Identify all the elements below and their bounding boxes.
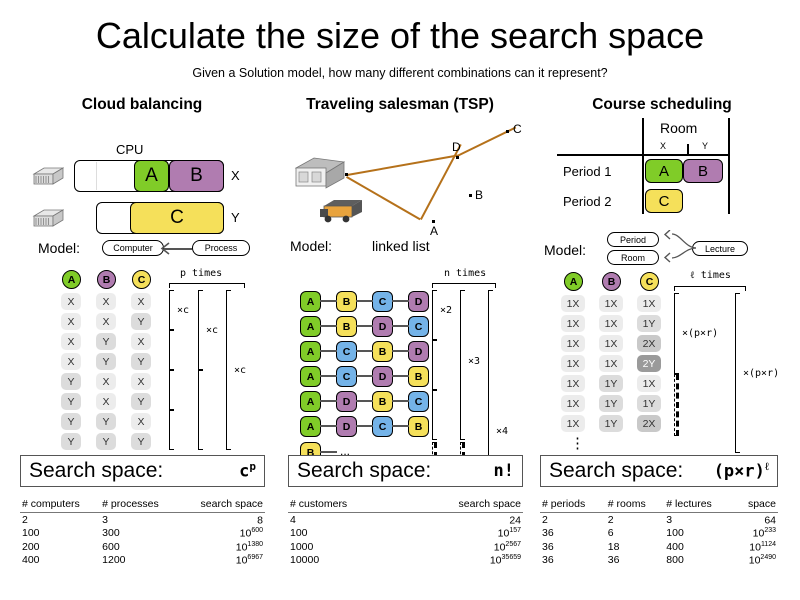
- cloud-balancing-diagram: CPU: [12, 116, 272, 236]
- combo-cell: X: [61, 353, 81, 370]
- entity-computer[interactable]: Computer: [102, 240, 164, 256]
- times-bracket: [169, 283, 245, 288]
- multiplier-bracket: [735, 293, 740, 453]
- chain-node: C: [408, 316, 429, 337]
- vertical-ellipsis: ⋮: [570, 442, 585, 446]
- chain-arrow: [392, 425, 409, 427]
- times-label: n times: [444, 268, 486, 279]
- multiplier-bracket: [169, 330, 174, 370]
- chip-a[interactable]: A: [134, 160, 169, 192]
- combo-cell: 1X: [561, 355, 585, 372]
- combo-header-b: B: [97, 270, 116, 289]
- combo-cell: Y: [96, 353, 116, 370]
- model-label: Model:: [290, 238, 332, 254]
- combo-cell: 2X: [637, 335, 661, 352]
- combo-cell: X: [131, 293, 151, 310]
- cell: 1035659: [401, 554, 523, 568]
- chain-node: D: [372, 316, 393, 337]
- combo-cell: 1X: [637, 375, 661, 392]
- combo-cell: 1X: [561, 415, 585, 432]
- combo-cell: 1X: [561, 295, 585, 312]
- combo-cell: Y: [61, 433, 81, 450]
- cell: 300: [100, 527, 179, 541]
- tsp-diagram: C D B A: [270, 116, 530, 236]
- machine-label-y: Y: [231, 210, 240, 225]
- chain-node: D: [408, 291, 429, 312]
- search-space-box-tsp: Search space: n!: [288, 455, 523, 487]
- chain-node: C: [336, 341, 357, 362]
- chain-node: C: [408, 391, 429, 412]
- chain-node: A: [300, 391, 321, 412]
- combo-cell: Y: [131, 353, 151, 370]
- combo-header-b: B: [602, 272, 621, 291]
- combo-cell: 1X: [561, 395, 585, 412]
- combo-cell: Y: [96, 413, 116, 430]
- cell: 64: [733, 513, 778, 527]
- chain-arrow: [356, 425, 373, 427]
- combo-cell: 1X: [637, 295, 661, 312]
- multiplier-label: ×(p×r): [682, 328, 718, 339]
- col-header: search space: [401, 497, 523, 513]
- grid-line: [687, 144, 689, 154]
- data-table-course: # periods # rooms # lectures space 2 2 3…: [540, 497, 778, 567]
- combo-cell: X: [96, 313, 116, 330]
- multiplier-bracket: [432, 290, 437, 340]
- cell: 400: [20, 554, 100, 568]
- column-traveling-salesman: Traveling salesman (TSP): [270, 96, 530, 444]
- cell: 10233: [733, 527, 778, 541]
- column-title-cloud-balancing: Cloud balancing: [12, 96, 272, 116]
- combo-cell: 2Y: [637, 355, 661, 372]
- course-scheduling-model: Model: Period Room Lecture: [532, 236, 792, 272]
- room-column-y: Y: [702, 141, 708, 151]
- relation-arrows: [656, 230, 698, 268]
- grid-line: [728, 118, 730, 214]
- cell: 2: [20, 513, 100, 527]
- multiplier-bracket: [169, 410, 174, 450]
- model-label: Model:: [544, 242, 586, 258]
- multiplier-bracket: [674, 293, 679, 374]
- chain-arrow: [392, 300, 409, 302]
- entity-process[interactable]: Process: [192, 240, 250, 256]
- lecture-a[interactable]: A: [645, 159, 683, 183]
- cell: 36: [540, 540, 606, 554]
- course-scheduling-diagram: Room X Y Period 1 Period 2 A B C: [532, 116, 792, 236]
- combo-cell: X: [96, 293, 116, 310]
- multiplier-label: ×c: [234, 365, 246, 376]
- route-point-d: [456, 156, 459, 159]
- combo-cell: X: [61, 313, 81, 330]
- cell: 106967: [179, 554, 265, 568]
- entity-room[interactable]: Room: [607, 250, 659, 265]
- chain-arrow: [356, 325, 373, 327]
- chain-node: B: [372, 341, 393, 362]
- table-row: 10000 1035659: [288, 554, 523, 568]
- chip-c[interactable]: C: [130, 202, 224, 234]
- combo-cell: Y: [131, 313, 151, 330]
- times-bracket: [674, 286, 746, 291]
- col-header: # processes: [100, 497, 179, 513]
- chain-node: D: [336, 391, 357, 412]
- times-label: ℓ times: [690, 270, 731, 281]
- route-point: [345, 173, 348, 176]
- table-row: 2 3 8: [20, 513, 265, 527]
- data-table-cloud: # computers # processes search space 2 3…: [20, 497, 265, 567]
- grid-line: [642, 118, 644, 214]
- search-space-box-course: Search space: (p×r)ℓ: [540, 455, 778, 487]
- chain-node: A: [300, 366, 321, 387]
- cell: 6: [606, 527, 664, 541]
- tsp-combinations: n times A B C D A B D C A C B D: [270, 266, 530, 444]
- search-space-label: Search space:: [29, 459, 163, 483]
- chip-b[interactable]: B: [169, 160, 224, 192]
- col-header: # rooms: [606, 497, 664, 513]
- cell: 100: [288, 527, 401, 541]
- page-title: Calculate the size of the search space: [0, 14, 800, 58]
- chain-arrow: [356, 300, 373, 302]
- combo-cell: 1Y: [599, 415, 623, 432]
- combo-header-a: A: [62, 270, 81, 289]
- chain-node: D: [336, 416, 357, 437]
- chain-arrow: [320, 350, 337, 352]
- cell: 36: [606, 554, 664, 568]
- combo-cell: 1Y: [599, 395, 623, 412]
- period-label-1: Period 1: [563, 164, 611, 179]
- chain-node: C: [336, 366, 357, 387]
- route-edge: [347, 155, 458, 176]
- combo-cell: 1X: [599, 315, 623, 332]
- col-header: # lectures: [664, 497, 733, 513]
- slide-root: Calculate the size of the search space G…: [0, 0, 800, 600]
- cloud-balancing-model: Model: Computer Process: [12, 236, 272, 266]
- multiplier-bracket: [198, 290, 203, 370]
- chain-node: D: [408, 341, 429, 362]
- combo-cell: 1Y: [637, 315, 661, 332]
- multiplier-bracket: [674, 374, 679, 436]
- cell: 2: [606, 513, 664, 527]
- cell: 1000: [288, 540, 401, 554]
- room-column-x: X: [660, 141, 666, 151]
- chain-arrow: [320, 400, 337, 402]
- route-point-a: [432, 220, 435, 223]
- chain-node: A: [300, 341, 321, 362]
- combo-cell: 1Y: [599, 375, 623, 392]
- multiplier-label: ×3: [468, 356, 480, 367]
- table-row: 200 600 101380: [20, 540, 265, 554]
- search-space-formula: (p×r)ℓ: [714, 460, 769, 482]
- combo-cell: X: [96, 373, 116, 390]
- cpu-tick: [96, 162, 97, 190]
- cell: 10157: [401, 527, 523, 541]
- route-label-d: D: [452, 140, 461, 154]
- cell: 24: [401, 513, 523, 527]
- route-point-c: [506, 130, 509, 133]
- combo-cell: Y: [61, 373, 81, 390]
- search-space-box-cloud: Search space: cp: [20, 455, 265, 487]
- cell: 600: [100, 540, 179, 554]
- multiplier-bracket: [488, 290, 493, 476]
- route-point-b: [469, 194, 472, 197]
- route-label-b: B: [475, 188, 483, 202]
- combo-cell: Y: [61, 413, 81, 430]
- table-row: 36 36 800 102490: [540, 554, 778, 568]
- combo-cell: 1Y: [637, 395, 661, 412]
- cell: 100: [20, 527, 100, 541]
- cell: 18: [606, 540, 664, 554]
- course-scheduling-combinations: A B C 1X 1X 1X 1X 1X 1Y 1X 1X 2X 1X 1X 2…: [532, 272, 792, 450]
- search-space-label: Search space:: [549, 459, 683, 483]
- multiplier-bracket: [198, 370, 203, 450]
- chain-arrow: [320, 425, 337, 427]
- col-header: space: [733, 497, 778, 513]
- table-row: 2 2 3 64: [540, 513, 778, 527]
- combo-cell: Y: [61, 393, 81, 410]
- search-space-label: Search space:: [297, 459, 431, 483]
- table-row: 100 300 10600: [20, 527, 265, 541]
- cell: 36: [540, 527, 606, 541]
- arrow-head-icon: [160, 242, 170, 255]
- chain-node: A: [300, 316, 321, 337]
- table-row: 1000 102567: [288, 540, 523, 554]
- chain-arrow: [356, 375, 373, 377]
- col-header: # customers: [288, 497, 401, 513]
- combo-cell: 1X: [599, 355, 623, 372]
- chain-node: B: [408, 366, 429, 387]
- cpu-label: CPU: [116, 142, 143, 157]
- cell: 100: [664, 527, 733, 541]
- column-course-scheduling: Course scheduling Room X Y Period 1 Peri…: [532, 96, 792, 450]
- chain-node: A: [300, 291, 321, 312]
- combo-cell: 1X: [599, 335, 623, 352]
- combo-cell: 1X: [561, 375, 585, 392]
- combo-cell: 1X: [561, 335, 585, 352]
- col-header: # computers: [20, 497, 100, 513]
- times-label: p times: [180, 268, 222, 279]
- model-value: linked list: [372, 238, 430, 254]
- cell: 10600: [179, 527, 265, 541]
- chain-arrow: [320, 300, 337, 302]
- times-bracket: [432, 283, 496, 288]
- combo-header-c: C: [640, 272, 659, 291]
- combo-cell: X: [61, 293, 81, 310]
- page-subtitle: Given a Solution model, how many differe…: [0, 66, 800, 80]
- multiplier-bracket: [169, 290, 174, 330]
- lecture-c[interactable]: C: [645, 189, 683, 213]
- cell: 400: [664, 540, 733, 554]
- cell: 1200: [100, 554, 179, 568]
- col-header: # periods: [540, 497, 606, 513]
- cell: 101124: [733, 540, 778, 554]
- chain-node: D: [372, 366, 393, 387]
- combo-header-a: A: [564, 272, 583, 291]
- cell: 10000: [288, 554, 401, 568]
- tsp-model: Model: linked list: [270, 236, 530, 266]
- multiplier-bracket: [432, 340, 437, 390]
- chain-node: C: [372, 416, 393, 437]
- column-title-course-scheduling: Course scheduling: [532, 96, 792, 116]
- chain-arrow: [392, 375, 409, 377]
- combo-cell: X: [131, 373, 151, 390]
- cell: 3: [100, 513, 179, 527]
- combo-cell: Y: [96, 333, 116, 350]
- combo-cell: Y: [131, 393, 151, 410]
- cloud-balancing-combinations: A B C X X X X X Y X Y X X Y Y Y X X Y X …: [12, 266, 272, 444]
- table-row: 4 24: [288, 513, 523, 527]
- chain-node: B: [408, 416, 429, 437]
- warehouse-icon: [292, 154, 348, 194]
- combo-cell: 1X: [599, 295, 623, 312]
- period-label-2: Period 2: [563, 194, 611, 209]
- cell: 102490: [733, 554, 778, 568]
- multiplier-bracket: [169, 370, 174, 410]
- cell: 4: [288, 513, 401, 527]
- multiplier-label: ×c: [206, 325, 218, 336]
- table-row: 36 18 400 101124: [540, 540, 778, 554]
- chain-node: B: [336, 291, 357, 312]
- multiplier-label: ×(p×r): [743, 368, 779, 379]
- search-space-formula: n!: [494, 461, 514, 481]
- server-icon: [28, 166, 64, 192]
- entity-period[interactable]: Period: [607, 232, 659, 247]
- entity-lecture[interactable]: Lecture: [692, 241, 748, 256]
- multiplier-label: ×4: [496, 426, 508, 437]
- search-space-formula: cp: [239, 460, 256, 482]
- model-label: Model:: [38, 240, 80, 256]
- chain-arrow: [392, 350, 409, 352]
- multiplier-bracket: [226, 290, 231, 450]
- cell: 2: [540, 513, 606, 527]
- combo-cell: 1X: [561, 315, 585, 332]
- cell: 102567: [401, 540, 523, 554]
- room-label: Room: [660, 120, 697, 136]
- chain-node: B: [372, 391, 393, 412]
- chain-arrow: [320, 375, 337, 377]
- machine-label-x: X: [231, 168, 240, 183]
- table-row: 400 1200 106967: [20, 554, 265, 568]
- chain-arrow: [320, 325, 337, 327]
- chain-arrow: [320, 451, 337, 453]
- table-row: 36 6 100 10233: [540, 527, 778, 541]
- cell: 200: [20, 540, 100, 554]
- data-table-tsp: # customers search space 4 24 100 10157 …: [288, 497, 523, 567]
- combo-header-c: C: [132, 270, 151, 289]
- combo-cell: Y: [96, 433, 116, 450]
- combo-cell: 2X: [637, 415, 661, 432]
- multiplier-label: ×2: [440, 305, 452, 316]
- combo-cell: X: [131, 333, 151, 350]
- chain-arrow: [392, 400, 409, 402]
- cell: 3: [664, 513, 733, 527]
- combo-cell: X: [96, 393, 116, 410]
- multiplier-label: ×c: [177, 305, 189, 316]
- combo-cell: X: [131, 413, 151, 430]
- chain-node: B: [336, 316, 357, 337]
- chain-arrow: [356, 400, 373, 402]
- server-icon: [28, 208, 64, 234]
- column-cloud-balancing: Cloud balancing CPU: [12, 96, 272, 444]
- lecture-b[interactable]: B: [683, 159, 723, 183]
- combo-cell: Y: [131, 433, 151, 450]
- truck-icon: [318, 196, 370, 228]
- multiplier-bracket: [432, 390, 437, 440]
- chain-arrow: [356, 350, 373, 352]
- cell: 36: [540, 554, 606, 568]
- multiplier-bracket: [460, 290, 465, 440]
- grid-line: [557, 154, 728, 156]
- cell: 101380: [179, 540, 265, 554]
- route-label-c: C: [513, 122, 522, 136]
- cell: 800: [664, 554, 733, 568]
- chain-node: C: [372, 291, 393, 312]
- combo-cell: X: [61, 333, 81, 350]
- chain-node: A: [300, 416, 321, 437]
- table-row: 100 10157: [288, 527, 523, 541]
- chain-arrow: [392, 325, 409, 327]
- column-title-tsp: Traveling salesman (TSP): [270, 96, 530, 116]
- col-header: search space: [179, 497, 265, 513]
- cell: 8: [179, 513, 265, 527]
